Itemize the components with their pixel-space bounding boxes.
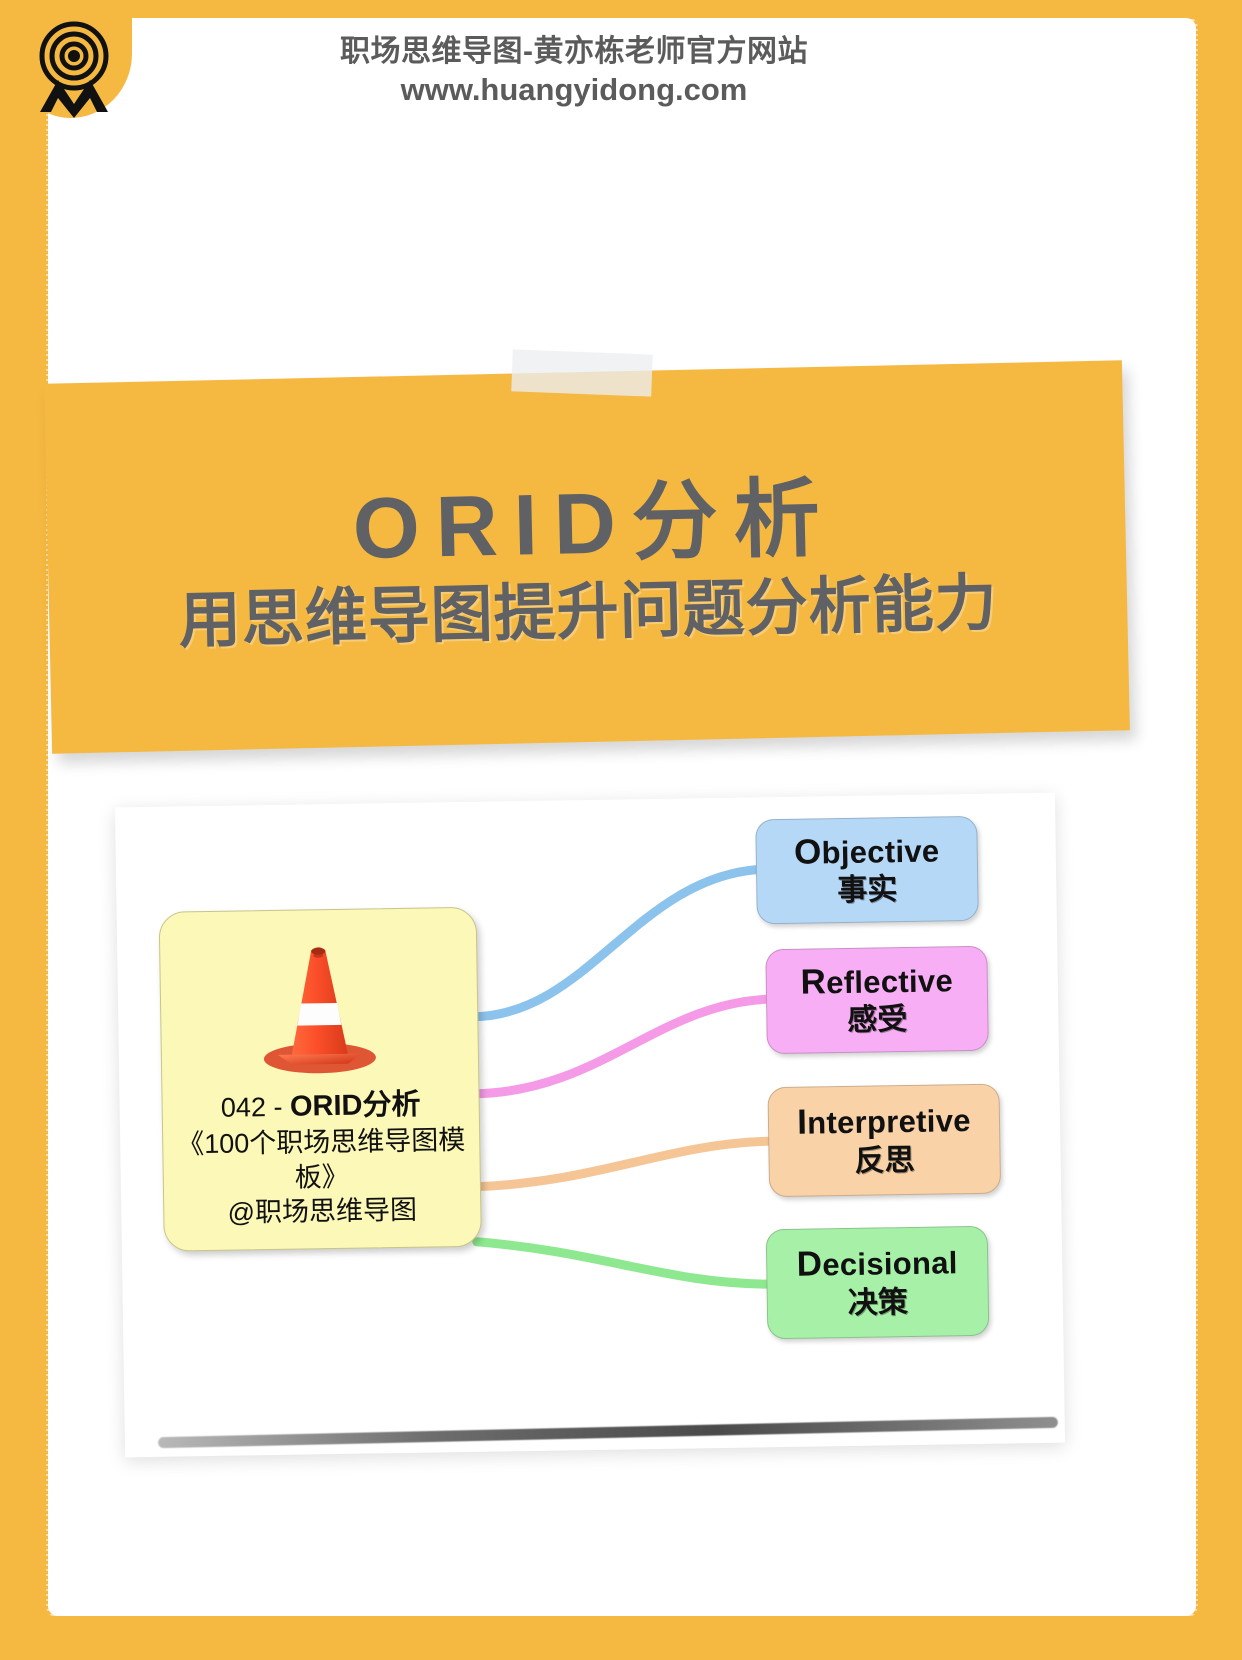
mindmap-card: 042 - ORID分析 《100个职场思维导图模板》 @职场思维导图 Obje… (115, 793, 1065, 1458)
node-decisional-cn: 决策 (848, 1285, 909, 1322)
site-logo (14, 12, 132, 118)
node-objective-cn: 事实 (837, 872, 898, 909)
node-reflective-cn: 感受 (847, 1002, 908, 1039)
link-decisional (477, 1237, 771, 1289)
site-name: 职场思维导图-黄亦栋老师官方网站 (0, 34, 1148, 71)
poster-page: 职场思维导图-黄亦栋老师官方网站 www.huangyidong.com ORI… (0, 0, 1242, 1660)
node-interpretive-label: Interpretive (797, 1100, 971, 1142)
mindmap-center-node[interactable]: 042 - ORID分析 《100个职场思维导图模板》 @职场思维导图 (159, 907, 482, 1252)
header: 职场思维导图-黄亦栋老师官方网站 www.huangyidong.com (0, 34, 1148, 108)
link-interpretive (475, 1141, 771, 1187)
center-line-2: 《100个职场思维导图模板》 (163, 1123, 480, 1197)
node-objective-label: Objective (794, 830, 940, 871)
mindmap-node-decisional[interactable]: Decisional 决策 (766, 1226, 990, 1339)
node-interpretive-cn: 反思 (854, 1143, 915, 1180)
mindmap-node-objective[interactable]: Objective 事实 (755, 816, 979, 924)
mindmap-node-reflective[interactable]: Reflective 感受 (765, 946, 989, 1054)
title-banner: ORID分析 用思维导图提升问题分析能力 (44, 360, 1130, 753)
link-objective (471, 869, 763, 1017)
center-line-3: @职场思维导图 (164, 1192, 481, 1232)
mindmap-node-interpretive[interactable]: Interpretive 反思 (767, 1084, 1001, 1198)
center-line-1-bold: ORID分析 (290, 1089, 421, 1123)
page-subtitle: 用思维导图提升问题分析能力 (178, 567, 998, 658)
page-title: ORID分析 (336, 474, 837, 575)
site-url: www.huangyidong.com (0, 71, 1148, 109)
center-line-1-prefix: 042 - (221, 1092, 291, 1123)
traffic-cone-icon (243, 929, 395, 1081)
center-line-1: 042 - ORID分析 (162, 1086, 479, 1128)
target-mountain-icon (14, 12, 132, 118)
tape-strip (511, 349, 653, 396)
node-reflective-label: Reflective (800, 960, 953, 1002)
node-decisional-label: Decisional (796, 1243, 958, 1285)
